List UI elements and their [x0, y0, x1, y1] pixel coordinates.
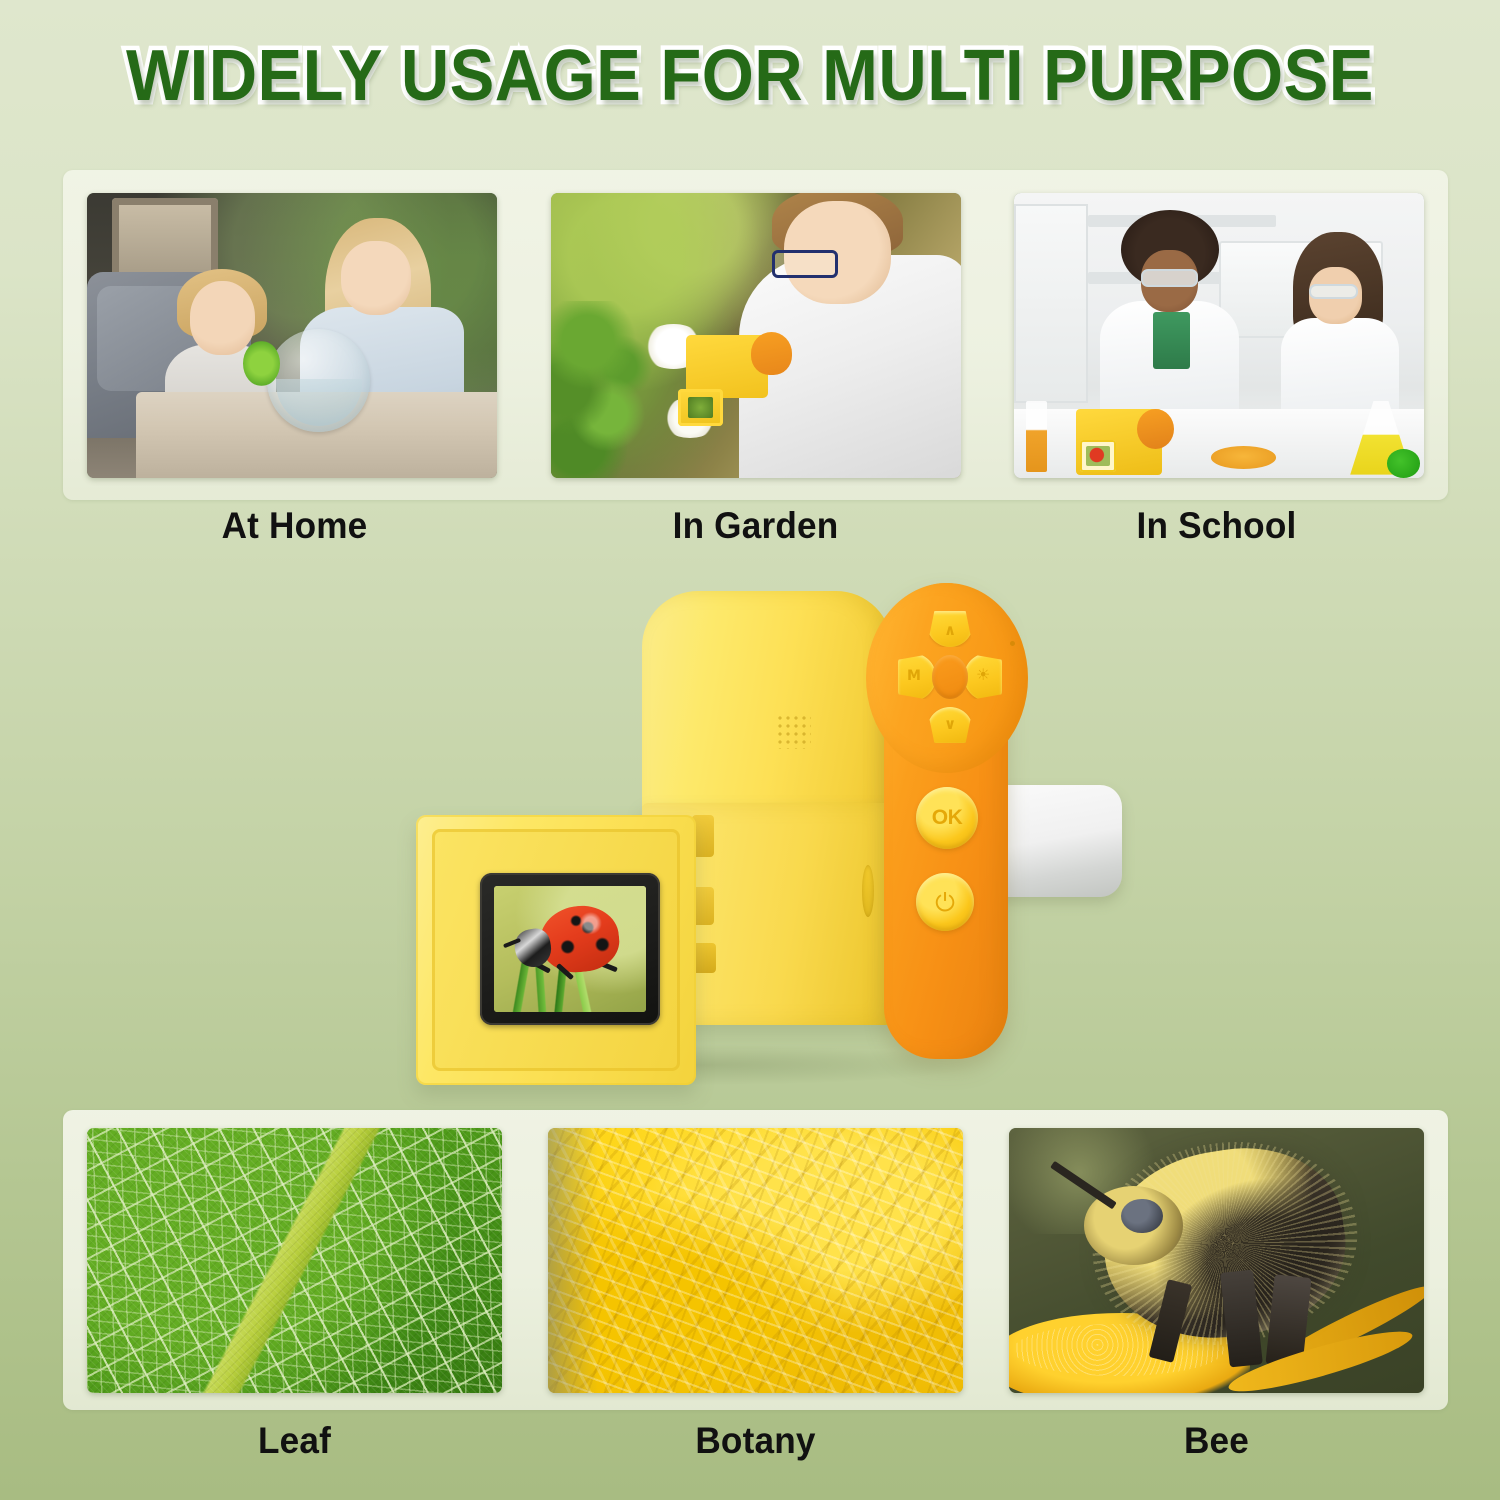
- leaf-texture: [87, 1128, 502, 1393]
- botany-texture: [548, 1128, 963, 1393]
- door-latch-icon: [862, 865, 874, 917]
- macro-photo-leaf: [87, 1128, 502, 1393]
- botany-macro-scene: [548, 1128, 963, 1393]
- leaf-macro-scene: [87, 1128, 502, 1393]
- flip-screen-door[interactable]: [416, 815, 696, 1085]
- graduated-cylinder: [1026, 401, 1047, 472]
- caption-in-garden: In Garden: [558, 505, 952, 547]
- caption-at-home: At Home: [97, 505, 491, 547]
- usage-photo-at-home: [87, 193, 497, 478]
- product-hero-device: ∧ ∨ M ☀ OK ⏻: [392, 575, 1122, 1085]
- dpad-center[interactable]: [932, 655, 968, 699]
- brightness-sun-icon: ☀: [976, 667, 990, 683]
- page-title-wrap: WIDELY USAGE FOR MULTI PURPOSE: [0, 40, 1500, 112]
- status-led-icon: [1010, 641, 1015, 646]
- microscope-screen: [678, 389, 723, 426]
- direction-pad[interactable]: ∧ ∨ M ☀: [900, 609, 998, 745]
- usage-photo-in-garden: [551, 193, 961, 478]
- safety-goggles-icon-girl: [1309, 284, 1358, 300]
- boy-shirt: [1153, 312, 1190, 369]
- chevron-down-icon: ∨: [944, 717, 956, 732]
- bee-eye: [1121, 1199, 1163, 1233]
- fishbowl: [267, 329, 370, 432]
- page-title: WIDELY USAGE FOR MULTI PURPOSE: [126, 40, 1374, 112]
- microscope-control-pad: [751, 332, 792, 375]
- usage-photo-in-school: [1014, 193, 1424, 478]
- garden-scene: [551, 193, 961, 478]
- lcd-display: [494, 886, 646, 1012]
- safety-goggles-icon-boy: [1141, 269, 1198, 286]
- lab-rack: [1014, 204, 1088, 404]
- bee-macro-scene: [1009, 1128, 1424, 1393]
- eyeglasses-icon: [772, 250, 838, 279]
- macro-photo-botany: [548, 1128, 963, 1393]
- power-icon: ⏻: [935, 890, 955, 915]
- wrist-strap: [992, 785, 1122, 897]
- microscope-screen: [1080, 440, 1117, 471]
- speaker-grille-icon: [777, 715, 811, 749]
- aquarium-plant: [243, 341, 280, 387]
- device-upper-body: [642, 591, 892, 821]
- living-room-scene: [87, 193, 497, 478]
- usage-scenes-panel: [63, 170, 1448, 500]
- ok-button[interactable]: OK: [916, 787, 978, 849]
- macro-photo-bee: [1009, 1128, 1424, 1393]
- caption-botany: Botany: [558, 1420, 952, 1462]
- chevron-up-icon: ∧: [944, 623, 956, 638]
- mode-m-icon: M: [907, 669, 921, 683]
- macro-samples-panel: [63, 1110, 1448, 1410]
- lcd-bezel: [480, 873, 660, 1025]
- power-button[interactable]: ⏻: [916, 873, 974, 931]
- caption-leaf: Leaf: [97, 1420, 491, 1462]
- green-beaker: [1387, 449, 1420, 478]
- girl-head: [190, 281, 256, 355]
- botany-edge-shadow: [548, 1128, 598, 1393]
- caption-bee: Bee: [1019, 1420, 1413, 1462]
- macro-captions: Leaf Botany Bee: [63, 1420, 1448, 1462]
- classroom-scene: [1014, 193, 1424, 478]
- microscope-control-pad: [1137, 409, 1174, 449]
- usage-captions: At Home In Garden In School: [63, 505, 1448, 547]
- mother-head: [341, 241, 411, 315]
- petri-dish: [1211, 446, 1277, 469]
- caption-in-school: In School: [1019, 505, 1413, 547]
- ok-button-label: OK: [932, 806, 963, 830]
